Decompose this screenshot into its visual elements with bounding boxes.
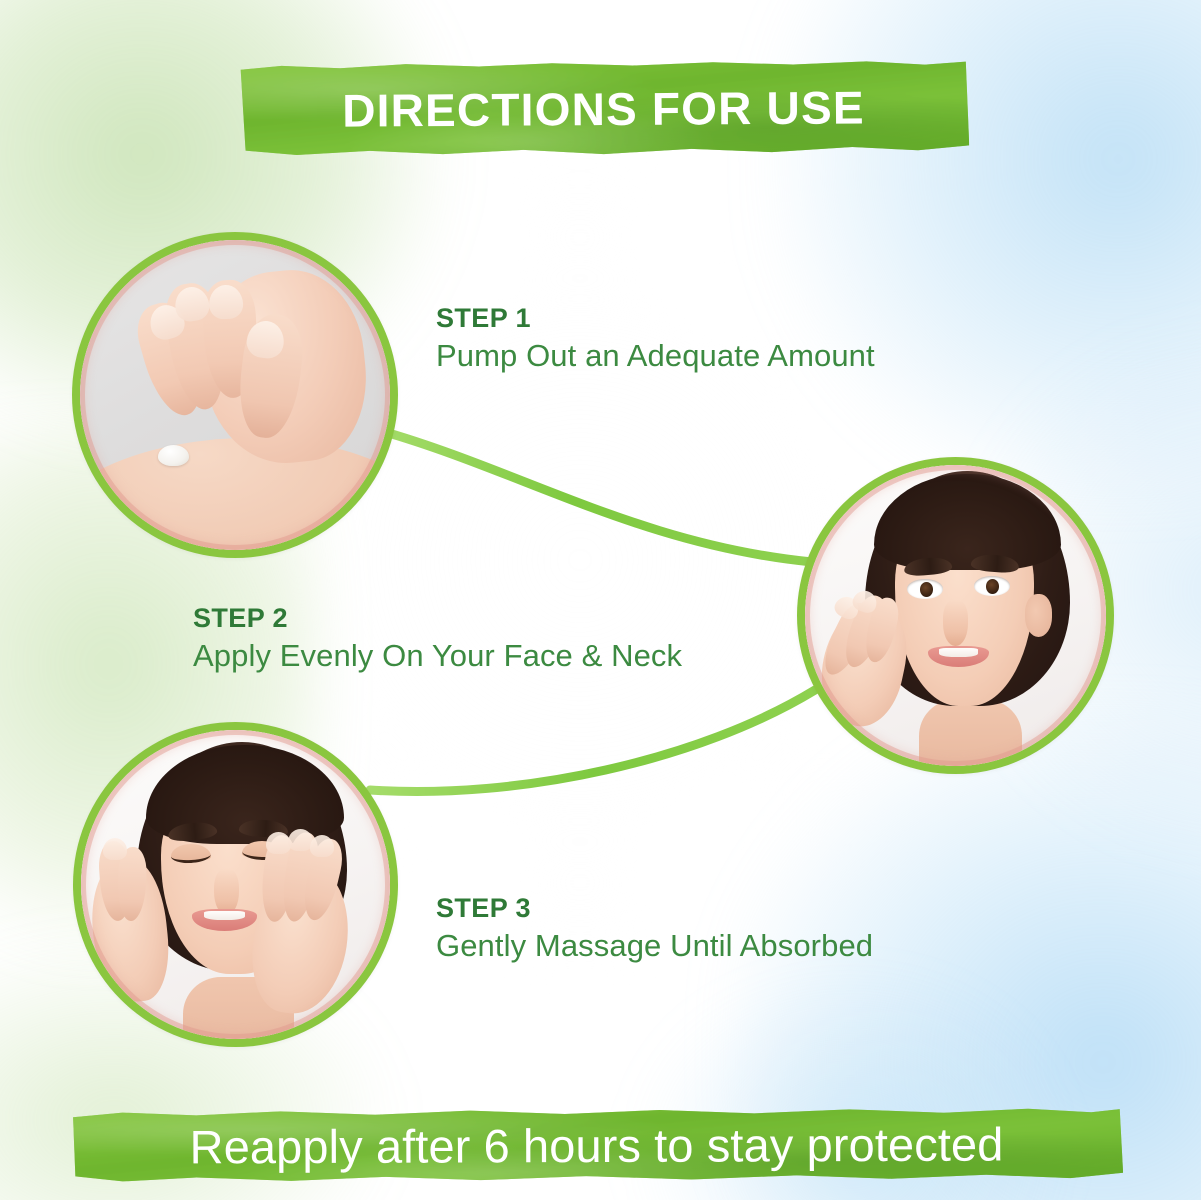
step-3-description: Gently Massage Until Absorbed [436,928,873,964]
footer-text: Reapply after 6 hours to stay protected [190,1116,1004,1174]
step-1-label: STEP 1 [436,303,875,334]
step-3-text: STEP 3 Gently Massage Until Absorbed [436,893,873,964]
step-1-text: STEP 1 Pump Out an Adequate Amount [436,303,875,374]
step-2-label: STEP 2 [193,603,682,634]
footer-banner: Reapply after 6 hours to stay protected [70,1106,1123,1184]
page-title: DIRECTIONS FOR USE [342,80,865,137]
step-2-text: STEP 2 Apply Evenly On Your Face & Neck [193,603,682,674]
hand-dispensing-cream-on-forearm-photo [80,240,390,550]
step-2-image-circle [797,457,1114,774]
step-1-description: Pump Out an Adequate Amount [436,338,875,374]
woman-applying-cream-to-face-photo [805,465,1106,766]
step-3-image-circle [73,722,398,1047]
step-2-description: Apply Evenly On Your Face & Neck [193,638,682,674]
directions-for-use-infographic: DIRECTIONS FOR USE [0,0,1201,1200]
step-1-image-circle [72,232,398,558]
woman-massaging-face-eyes-closed-photo [81,730,390,1039]
title-banner: DIRECTIONS FOR USE [238,60,970,157]
cream-dot [158,445,189,467]
step-3-label: STEP 3 [436,893,873,924]
connector-step1-to-step2 [378,430,812,562]
connector-step2-to-step3 [370,690,815,792]
